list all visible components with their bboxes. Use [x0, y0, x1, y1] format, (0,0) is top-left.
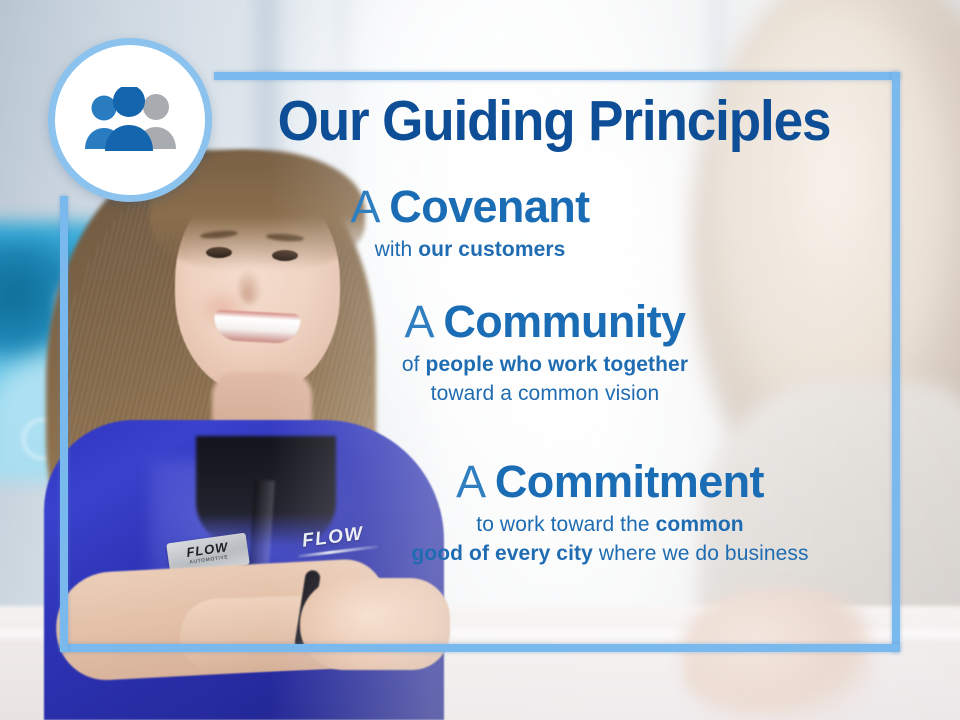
principle-commitment-body: to work toward the common good of every … — [330, 511, 890, 569]
principle-community-keyword: Community — [443, 296, 685, 347]
principle-covenant-title: A Covenant — [190, 183, 750, 230]
principle-commitment: A Commitment to work toward the common g… — [330, 458, 890, 569]
principle-commitment-body-plain-1: to work toward the — [476, 513, 655, 536]
principle-community: A Community of people who work together … — [250, 298, 840, 409]
principle-commitment-keyword: Commitment — [495, 456, 764, 507]
principle-community-lead: A — [405, 296, 444, 347]
people-group-icon — [78, 87, 182, 153]
principle-commitment-lead: A — [456, 456, 495, 507]
frame-border-top — [214, 72, 900, 80]
employee-clasped-hands — [300, 578, 450, 670]
principle-commitment-body-bold-1: common — [656, 513, 744, 536]
principle-community-title: A Community — [250, 298, 840, 345]
page-title: Our Guiding Principles — [238, 92, 870, 150]
principle-commitment-body-bold-2: good of every city — [411, 542, 593, 565]
principle-commitment-body-plain-3: where we do business — [593, 542, 809, 565]
principle-covenant-body-bold: our customers — [418, 238, 565, 261]
frame-border-left — [60, 196, 68, 652]
principle-community-body-plain: of — [402, 353, 426, 376]
frame-border-right — [892, 72, 900, 652]
principle-community-body-line2: toward a common vision — [431, 382, 660, 405]
people-group-badge — [48, 38, 212, 202]
principle-covenant: A Covenant with our customers — [190, 183, 750, 265]
principle-covenant-keyword: Covenant — [389, 181, 589, 232]
banner-root: FLOW AUTOMOTIVE FLOW — [0, 0, 960, 720]
principle-commitment-title: A Commitment — [330, 458, 890, 505]
principle-covenant-body: with our customers — [190, 236, 750, 265]
principle-community-body: of people who work together toward a com… — [250, 351, 840, 409]
principle-community-body-bold: people who work together — [426, 353, 689, 376]
principle-covenant-body-plain: with — [375, 238, 419, 261]
frame-border-bottom — [60, 644, 900, 652]
customer-hand — [682, 588, 872, 718]
principle-covenant-lead: A — [350, 181, 389, 232]
